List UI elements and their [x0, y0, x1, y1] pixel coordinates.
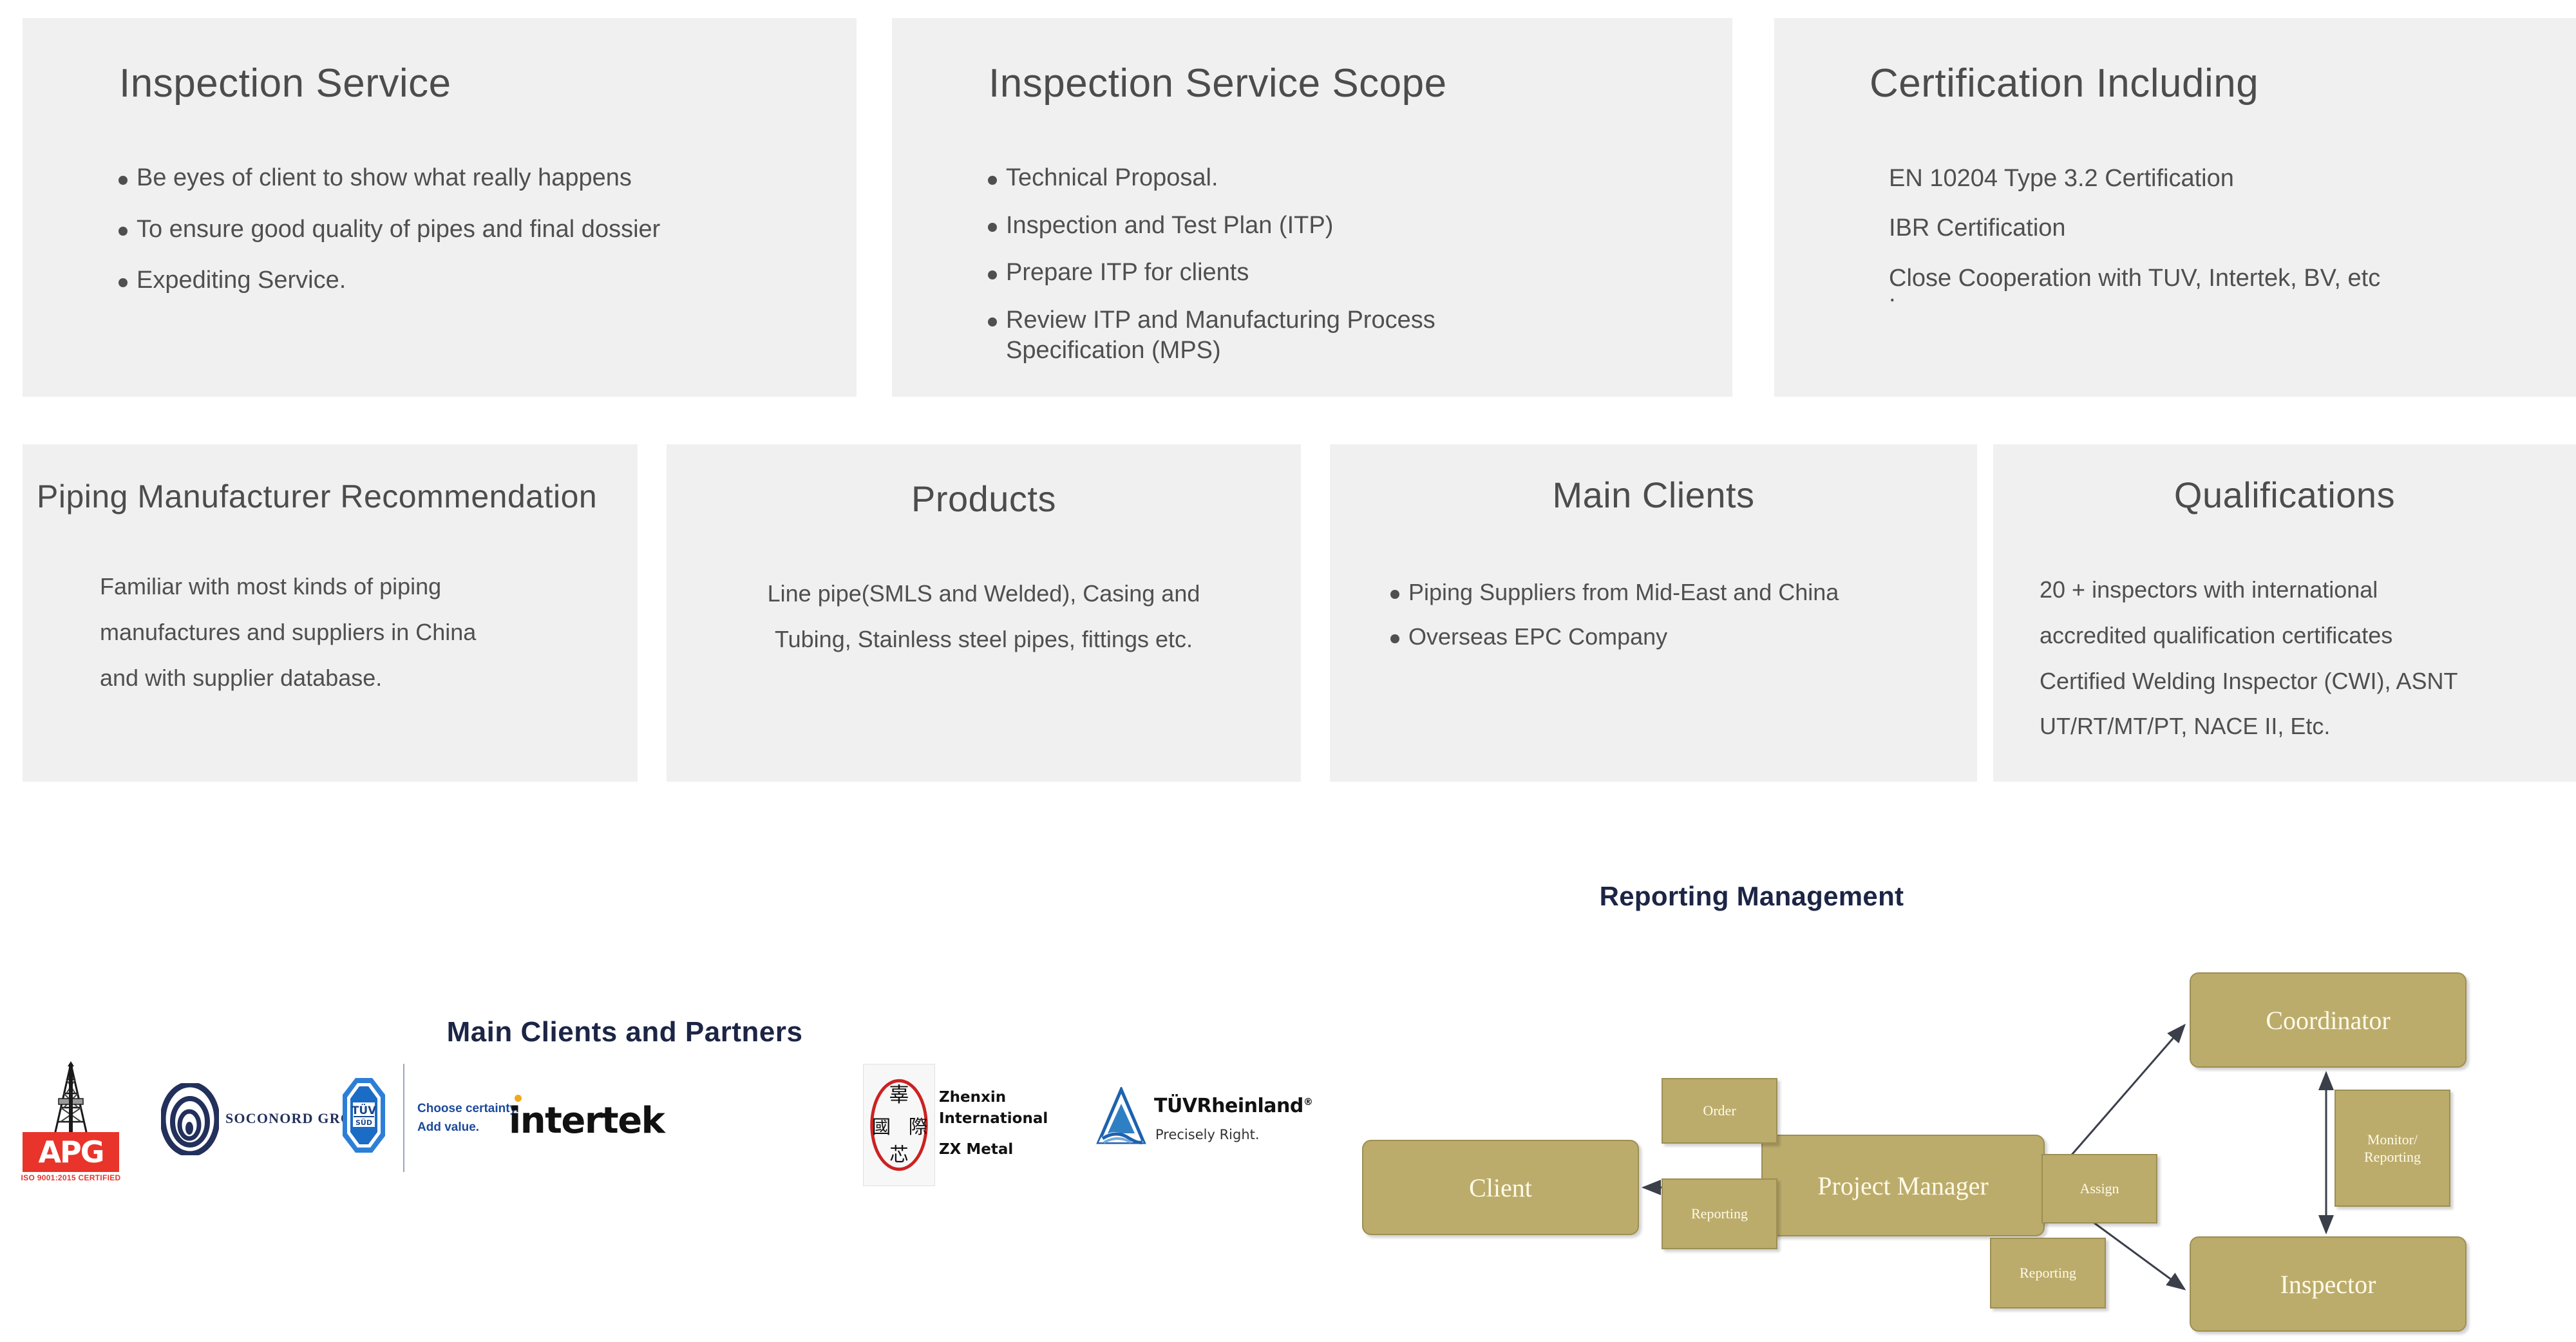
- bullet-list: Be eyes of client to show what really ha…: [109, 163, 857, 296]
- card-title: Piping Manufacturer Recommendation: [37, 478, 638, 515]
- svg-text:TÜV: TÜV: [352, 1103, 377, 1117]
- card-body: EN 10204 Type 3.2 Certification IBR Cert…: [1889, 163, 2576, 298]
- text-line: accredited qualification certificates: [2040, 621, 2576, 651]
- card-inspection-service-scope: Inspection Service Scope Technical Propo…: [892, 18, 1732, 397]
- text-line: UT/RT/MT/PT, NACE II, Etc.: [2040, 712, 2576, 742]
- bullet-list: Technical Proposal. Inspection and Test …: [979, 163, 1732, 366]
- apg-iso-caption: ISO 9001:2015 CERTIFIED: [19, 1173, 122, 1182]
- list-item: Technical Proposal.: [979, 163, 1732, 194]
- svg-text:辜: 辜: [889, 1084, 909, 1107]
- card-title: Inspection Service Scope: [989, 61, 1732, 106]
- text-line: manufactures and suppliers in China: [100, 618, 638, 648]
- svg-text:國: 國: [872, 1116, 891, 1138]
- svg-text:芯: 芯: [889, 1144, 908, 1166]
- intertek-logo: intertek: [509, 1100, 664, 1142]
- node-coordinator[interactable]: Coordinator: [2190, 972, 2467, 1068]
- card-body: 20 + inspectors with international accre…: [2040, 575, 2576, 742]
- tuv-sud-tagline: Choose certainty. Add value.: [417, 1100, 519, 1137]
- chinese-seal-icon: 辜 國 際 芯: [864, 1064, 934, 1186]
- zhenxin-seal-icon: 辜 國 際 芯: [863, 1064, 935, 1186]
- text-line: Tubing, Stainless steel pipes, fittings …: [667, 625, 1301, 655]
- bullet-list: Piping Suppliers from Mid-East and China…: [1381, 578, 1977, 651]
- svg-text:SÜD: SÜD: [355, 1118, 372, 1127]
- partners-heading: Main Clients and Partners: [0, 1016, 1249, 1048]
- divider: [403, 1064, 404, 1172]
- zhenxin-wordmark: Zhenxin International ZX Metal: [939, 1087, 1048, 1160]
- node-inspector[interactable]: Inspector: [2190, 1236, 2467, 1332]
- card-body: Line pipe(SMLS and Welded), Casing and T…: [667, 579, 1301, 655]
- list-item: Piping Suppliers from Mid-East and China: [1381, 578, 1977, 607]
- edge-label-assign: Assign: [2041, 1154, 2157, 1224]
- card-title: Certification Including: [1870, 61, 2576, 106]
- card-body: Piping Suppliers from Mid-East and China…: [1381, 578, 1977, 651]
- card-title: Main Clients: [1330, 474, 1977, 516]
- tuv-sud-tagline-line2: Add value.: [417, 1120, 479, 1134]
- reporting-management-diagram: Client Project Manager Coordinator Inspe…: [1352, 856, 2576, 1342]
- text-line: EN 10204 Type 3.2 Certification: [1889, 163, 2576, 194]
- card-body: Be eyes of client to show what really ha…: [109, 163, 857, 296]
- text-line: Certified Welding Inspector (CWI), ASNT: [2040, 666, 2576, 697]
- partner-logo-row: APG ISO 9001:2015 CERTIFIED SOCONORD GRO…: [0, 1050, 1307, 1211]
- node-project-manager[interactable]: Project Manager: [1761, 1135, 2045, 1236]
- text-line: Line pipe(SMLS and Welded), Casing and: [667, 579, 1301, 609]
- text-line: IBR Certification: [1889, 213, 2576, 244]
- card-inspection-service: Inspection Service Be eyes of client to …: [23, 18, 857, 397]
- zhenxin-line-3: ZX Metal: [939, 1139, 1048, 1160]
- zhenxin-line-2: International: [939, 1108, 1048, 1129]
- list-item: Inspection and Test Plan (ITP): [979, 211, 1732, 241]
- list-item: Review ITP and Manufacturing Process Spe…: [979, 305, 1540, 366]
- spiral-icon: [161, 1083, 219, 1155]
- tuv-sud-tagline-line1: Choose certainty.: [417, 1102, 519, 1115]
- card-body: Technical Proposal. Inspection and Test …: [979, 163, 1732, 366]
- card-piping-manufacturer-recommendation: Piping Manufacturer Recommendation Famil…: [23, 444, 638, 782]
- list-item: Expediting Service.: [109, 265, 857, 296]
- text-line: Close Cooperation with TUV, Intertek, BV…: [1889, 263, 2576, 294]
- registered-mark: ®: [1303, 1096, 1313, 1108]
- edge-label-monitor-reporting: Monitor/ Reporting: [2334, 1090, 2450, 1207]
- tuv-rheinland-word: TÜVRheinland: [1154, 1095, 1303, 1117]
- text-line: and with supplier database.: [100, 663, 638, 694]
- intertek-dot-icon: [515, 1095, 522, 1102]
- tuv-rheinland-wordmark: TÜVRheinland®: [1154, 1095, 1312, 1117]
- node-client[interactable]: Client: [1362, 1140, 1639, 1235]
- card-certification-including: Certification Including EN 10204 Type 3.…: [1774, 18, 2576, 397]
- oil-derrick-icon: [50, 1060, 92, 1137]
- tuv-sud-octagon-icon: TÜV SÜD: [341, 1077, 386, 1154]
- text-line: 20 + inspectors with international: [2040, 575, 2576, 605]
- card-title: Qualifications: [1993, 474, 2576, 516]
- list-item: Overseas EPC Company: [1381, 622, 1977, 651]
- tuv-rheinland-tagline: Precisely Right.: [1155, 1127, 1260, 1142]
- list-item: Prepare ITP for clients: [979, 258, 1732, 288]
- edge-label-order: Order: [1662, 1078, 1777, 1144]
- tuv-rheinland-triangle-icon: [1095, 1087, 1148, 1146]
- text-line: Familiar with most kinds of piping: [100, 572, 638, 602]
- card-qualifications: Qualifications 20 + inspectors with inte…: [1993, 444, 2576, 782]
- list-item: To ensure good quality of pipes and fina…: [109, 214, 857, 245]
- zhenxin-line-1: Zhenxin: [939, 1087, 1048, 1108]
- card-main-clients: Main Clients Piping Suppliers from Mid-E…: [1330, 444, 1977, 782]
- apg-logo: APG ISO 9001:2015 CERTIFIED: [19, 1060, 122, 1186]
- list-item: Be eyes of client to show what really ha…: [109, 163, 857, 194]
- card-title: Products: [667, 478, 1301, 520]
- edge-label-reporting-inspector: Reporting: [1990, 1238, 2106, 1309]
- edge-label-reporting-client: Reporting: [1662, 1178, 1777, 1249]
- apg-wordmark: APG: [23, 1132, 119, 1172]
- svg-text:際: 際: [909, 1116, 927, 1138]
- card-products: Products Line pipe(SMLS and Welded), Cas…: [667, 444, 1301, 782]
- intertek-wordmark: intertek: [509, 1100, 664, 1142]
- card-title: Inspection Service: [119, 61, 857, 106]
- card-body: Familiar with most kinds of piping manuf…: [100, 572, 638, 693]
